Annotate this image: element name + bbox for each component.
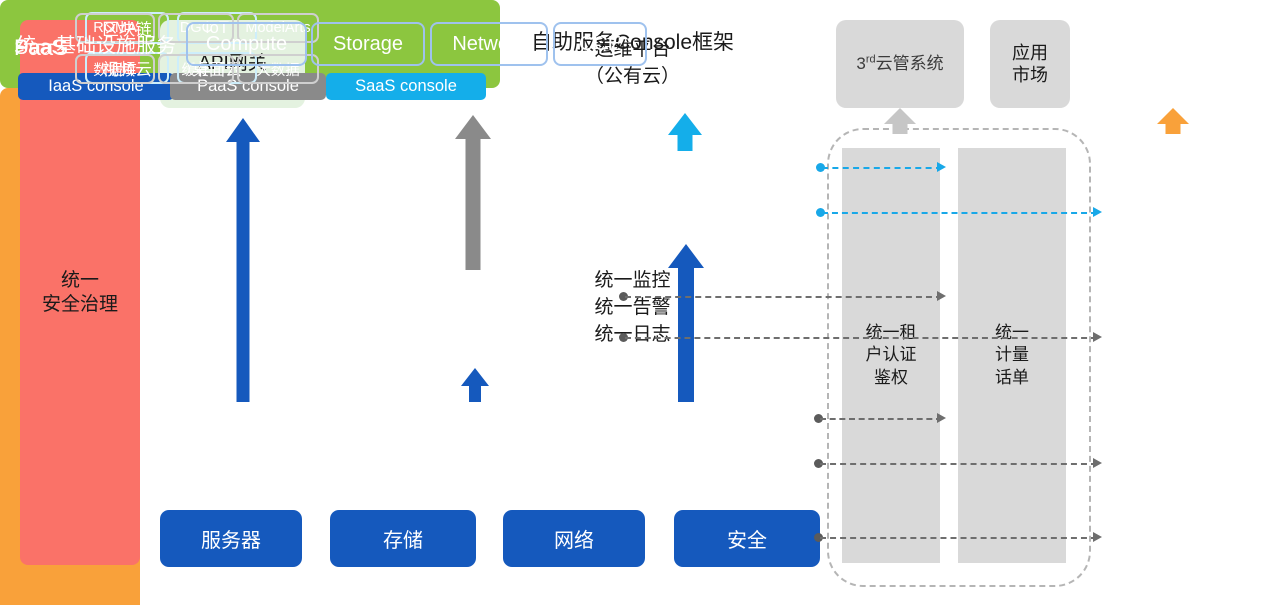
hardware-box-server[interactable]: 服务器: [160, 510, 302, 567]
arrowhead-saas-to-auth: [937, 162, 946, 172]
dashed-hardware-to-ops: [820, 537, 1097, 539]
metering-line1: 统一: [995, 322, 1029, 344]
dashed-infra-to-auth: [820, 418, 942, 420]
arrowhead-saas-to-ops: [1093, 207, 1102, 217]
arrow-infra-to-api-gateway: [226, 118, 260, 402]
tenant-auth-line1: 统一租: [866, 322, 917, 344]
dashed-saas-to-ops: [822, 212, 1097, 214]
arrowhead-infra-to-ops: [1093, 458, 1102, 468]
dashed-paas-to-auth: [625, 296, 942, 298]
architecture-diagram: 统一 安全治理 API网关 自助服务Console框架 IaaS console…: [0, 0, 1265, 605]
dashed-saas-to-auth: [822, 167, 942, 169]
arrow-into-ops-platform: [1157, 108, 1189, 134]
arrowhead-hardware-to-ops: [1093, 532, 1102, 542]
tenant-auth-line2: 户认证: [866, 344, 917, 366]
infra-chip-network-label: Network: [452, 33, 525, 56]
hardware-box-server-label: 服务器: [201, 524, 261, 553]
metering-line2: 计量: [995, 344, 1029, 366]
paas-chip-database[interactable]: 数据库: [75, 54, 155, 84]
hardware-box-security-label: 安全: [727, 524, 767, 553]
infra-chip-storage[interactable]: Storage: [311, 22, 425, 66]
arrowhead-paas-to-auth: [937, 291, 946, 301]
arrow-paas-to-console: [455, 115, 491, 270]
dashed-paas-to-ops: [625, 337, 1097, 339]
unified-tenant-auth-column: 统一租 户认证 鉴权: [842, 148, 940, 563]
dashed-infra-to-ops: [820, 463, 1097, 465]
tenant-auth-line3: 鉴权: [866, 367, 917, 389]
metering-line3: 话单: [995, 367, 1029, 389]
infra-chip-storage-label: Storage: [333, 33, 403, 56]
arrowhead-infra-to-auth: [937, 413, 946, 423]
unified-infrastructure-label: 统一基础设施服务: [16, 29, 176, 58]
paas-chip-database-label: 数据库: [93, 59, 137, 80]
infra-chip-cce-label: CCE: [579, 33, 621, 56]
hardware-box-network[interactable]: 网络: [503, 510, 645, 567]
infra-chip-network[interactable]: Network: [430, 22, 548, 66]
arrow-infra-to-saas: [668, 244, 704, 402]
hardware-box-security[interactable]: 安全: [674, 510, 820, 567]
hardware-box-storage[interactable]: 存储: [330, 510, 476, 567]
unified-metering-billing-column: 统一 计量 话单: [958, 148, 1066, 563]
hardware-box-network-label: 网络: [554, 524, 594, 553]
arrow-into-third-party-cloud: [884, 108, 916, 134]
infra-chip-compute[interactable]: Compute: [186, 22, 307, 66]
infra-chip-cce[interactable]: CCE: [553, 22, 647, 66]
arrow-saas-to-console: [668, 113, 702, 149]
arrow-infra-to-paas: [461, 368, 489, 402]
hardware-box-storage-label: 存储: [383, 524, 423, 553]
infra-chip-compute-label: Compute: [206, 33, 287, 56]
arrowhead-paas-to-ops: [1093, 332, 1102, 342]
